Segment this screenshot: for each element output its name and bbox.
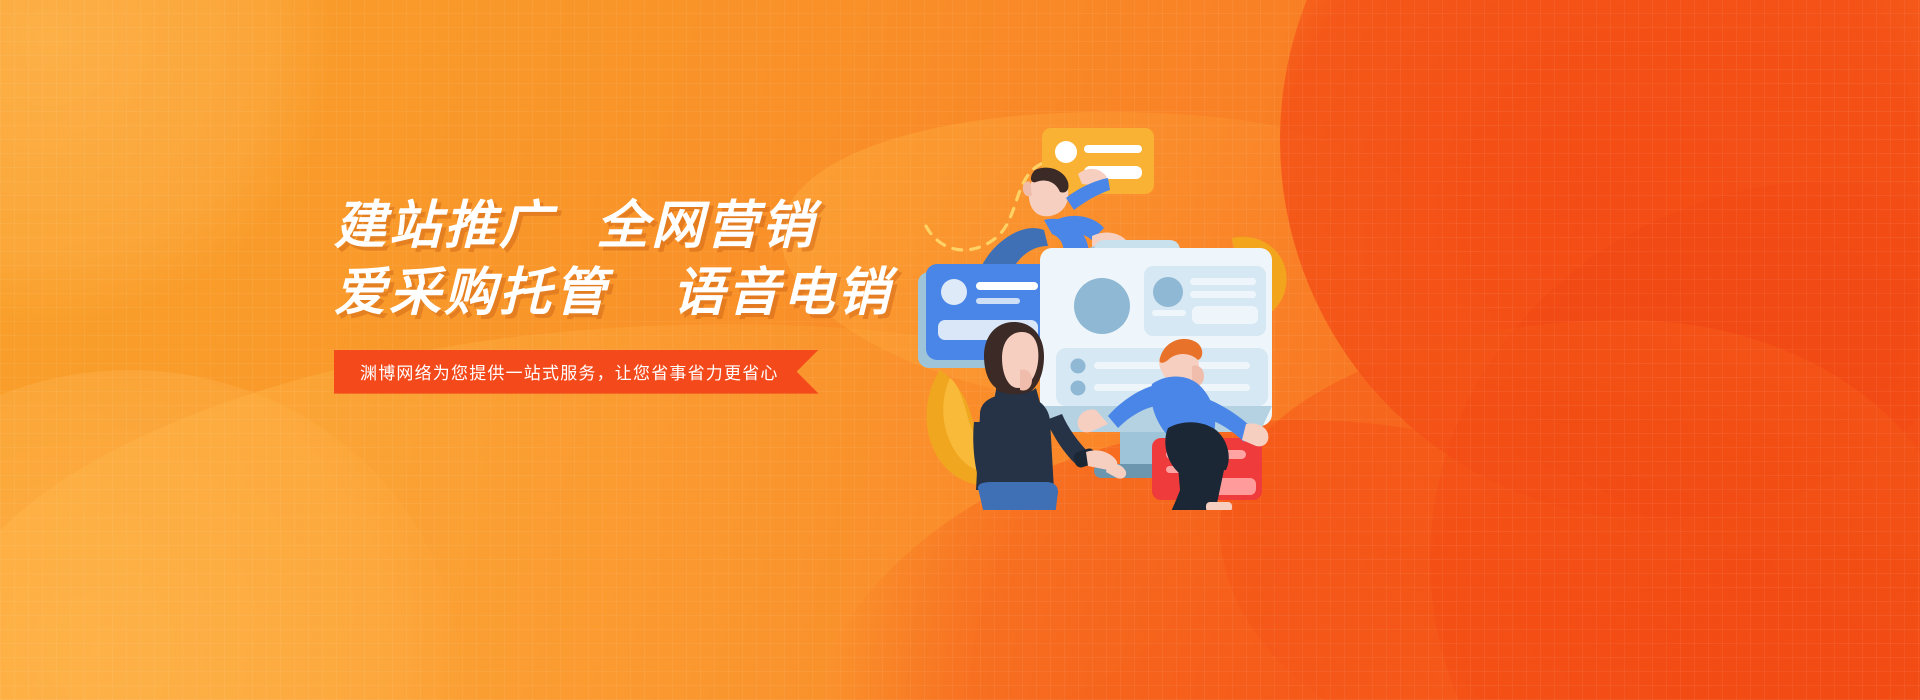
hero-illustration (880, 70, 1300, 510)
blob-top-left (0, 0, 330, 320)
tagline-ribbon: 渊博网络为您提供一站式服务，让您省事省力更省心 (334, 350, 819, 394)
hero-banner: 建站推广 全网营销 爱采购托管 语音电销 渊博网络为您提供一站式服务，让您省事省… (0, 0, 1920, 700)
tagline-text: 渊博网络为您提供一站式服务，让您省事省力更省心 (360, 359, 779, 384)
